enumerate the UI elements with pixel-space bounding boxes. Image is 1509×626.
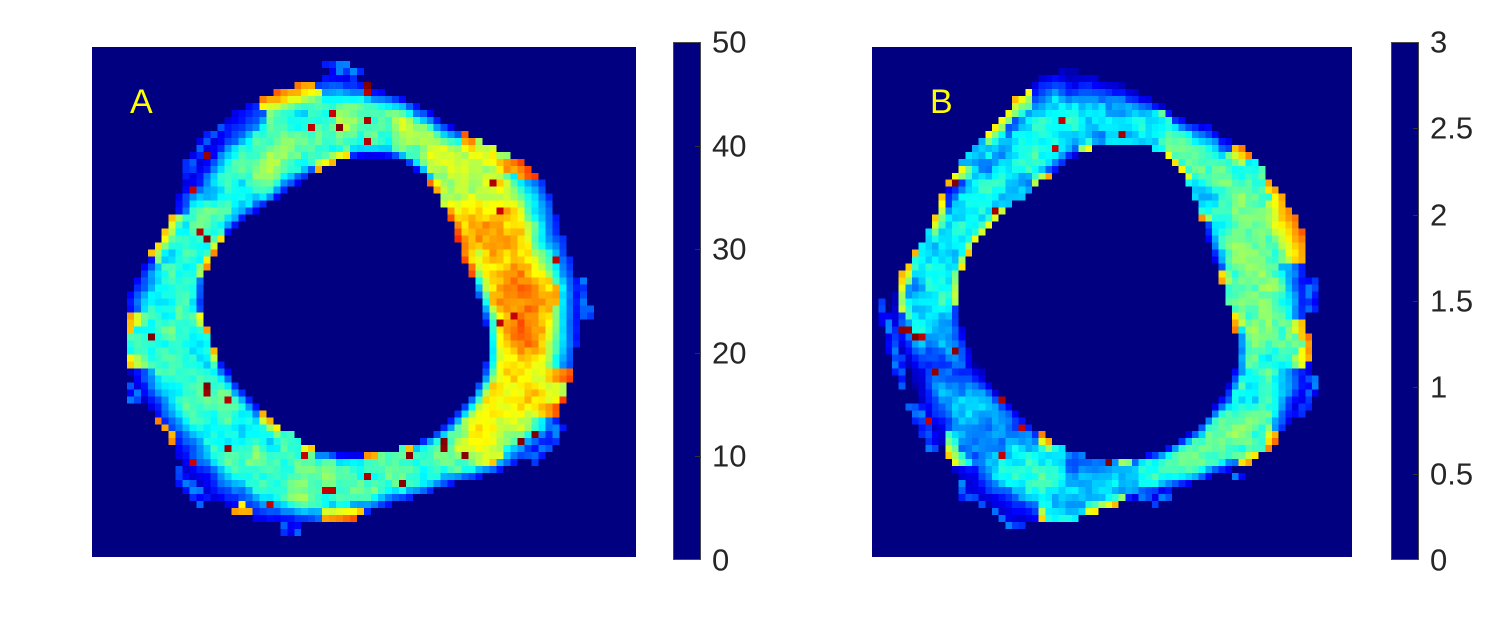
colorbar-tick-label: 1.5	[1430, 286, 1473, 317]
colorbar-tick-label: 3	[1430, 27, 1447, 58]
colorbar-tick	[695, 456, 701, 457]
colorbar-tick-label: 0	[1430, 545, 1447, 576]
colorbar-a-ticks	[673, 42, 701, 560]
panel-a: A	[92, 47, 636, 557]
colorbar-tick-label: 0	[712, 545, 729, 576]
colorbar-tick-label: 10	[712, 441, 746, 472]
colorbar-b	[1391, 42, 1419, 560]
parametric-map-b-canvas	[872, 47, 1352, 557]
panel-b: B	[872, 47, 1352, 557]
colorbar-tick-label: 1	[1430, 372, 1447, 403]
colorbar-tick-label: 40	[712, 130, 746, 161]
colorbar-tick	[1413, 128, 1419, 129]
colorbar-tick	[695, 146, 701, 147]
colorbar-b-ticks	[1391, 42, 1419, 560]
parametric-map-a-canvas	[92, 47, 636, 557]
colorbar-tick-label: 0.5	[1430, 458, 1473, 489]
colorbar-tick	[1413, 301, 1419, 302]
colorbar-a	[673, 42, 701, 560]
colorbar-tick-label: 2.5	[1430, 113, 1473, 144]
colorbar-tick	[1413, 215, 1419, 216]
panel-a-letter: A	[130, 85, 153, 119]
panel-b-letter: B	[930, 85, 953, 119]
colorbar-tick	[695, 353, 701, 354]
colorbar-tick	[1413, 387, 1419, 388]
colorbar-tick-label: 30	[712, 234, 746, 265]
colorbar-tick-label: 20	[712, 337, 746, 368]
colorbar-tick	[695, 249, 701, 250]
colorbar-tick-label: 2	[1430, 199, 1447, 230]
colorbar-tick-label: 50	[712, 27, 746, 58]
figure-root: A 01020304050 B 00.511.522.53	[0, 0, 1509, 626]
colorbar-tick	[1413, 474, 1419, 475]
